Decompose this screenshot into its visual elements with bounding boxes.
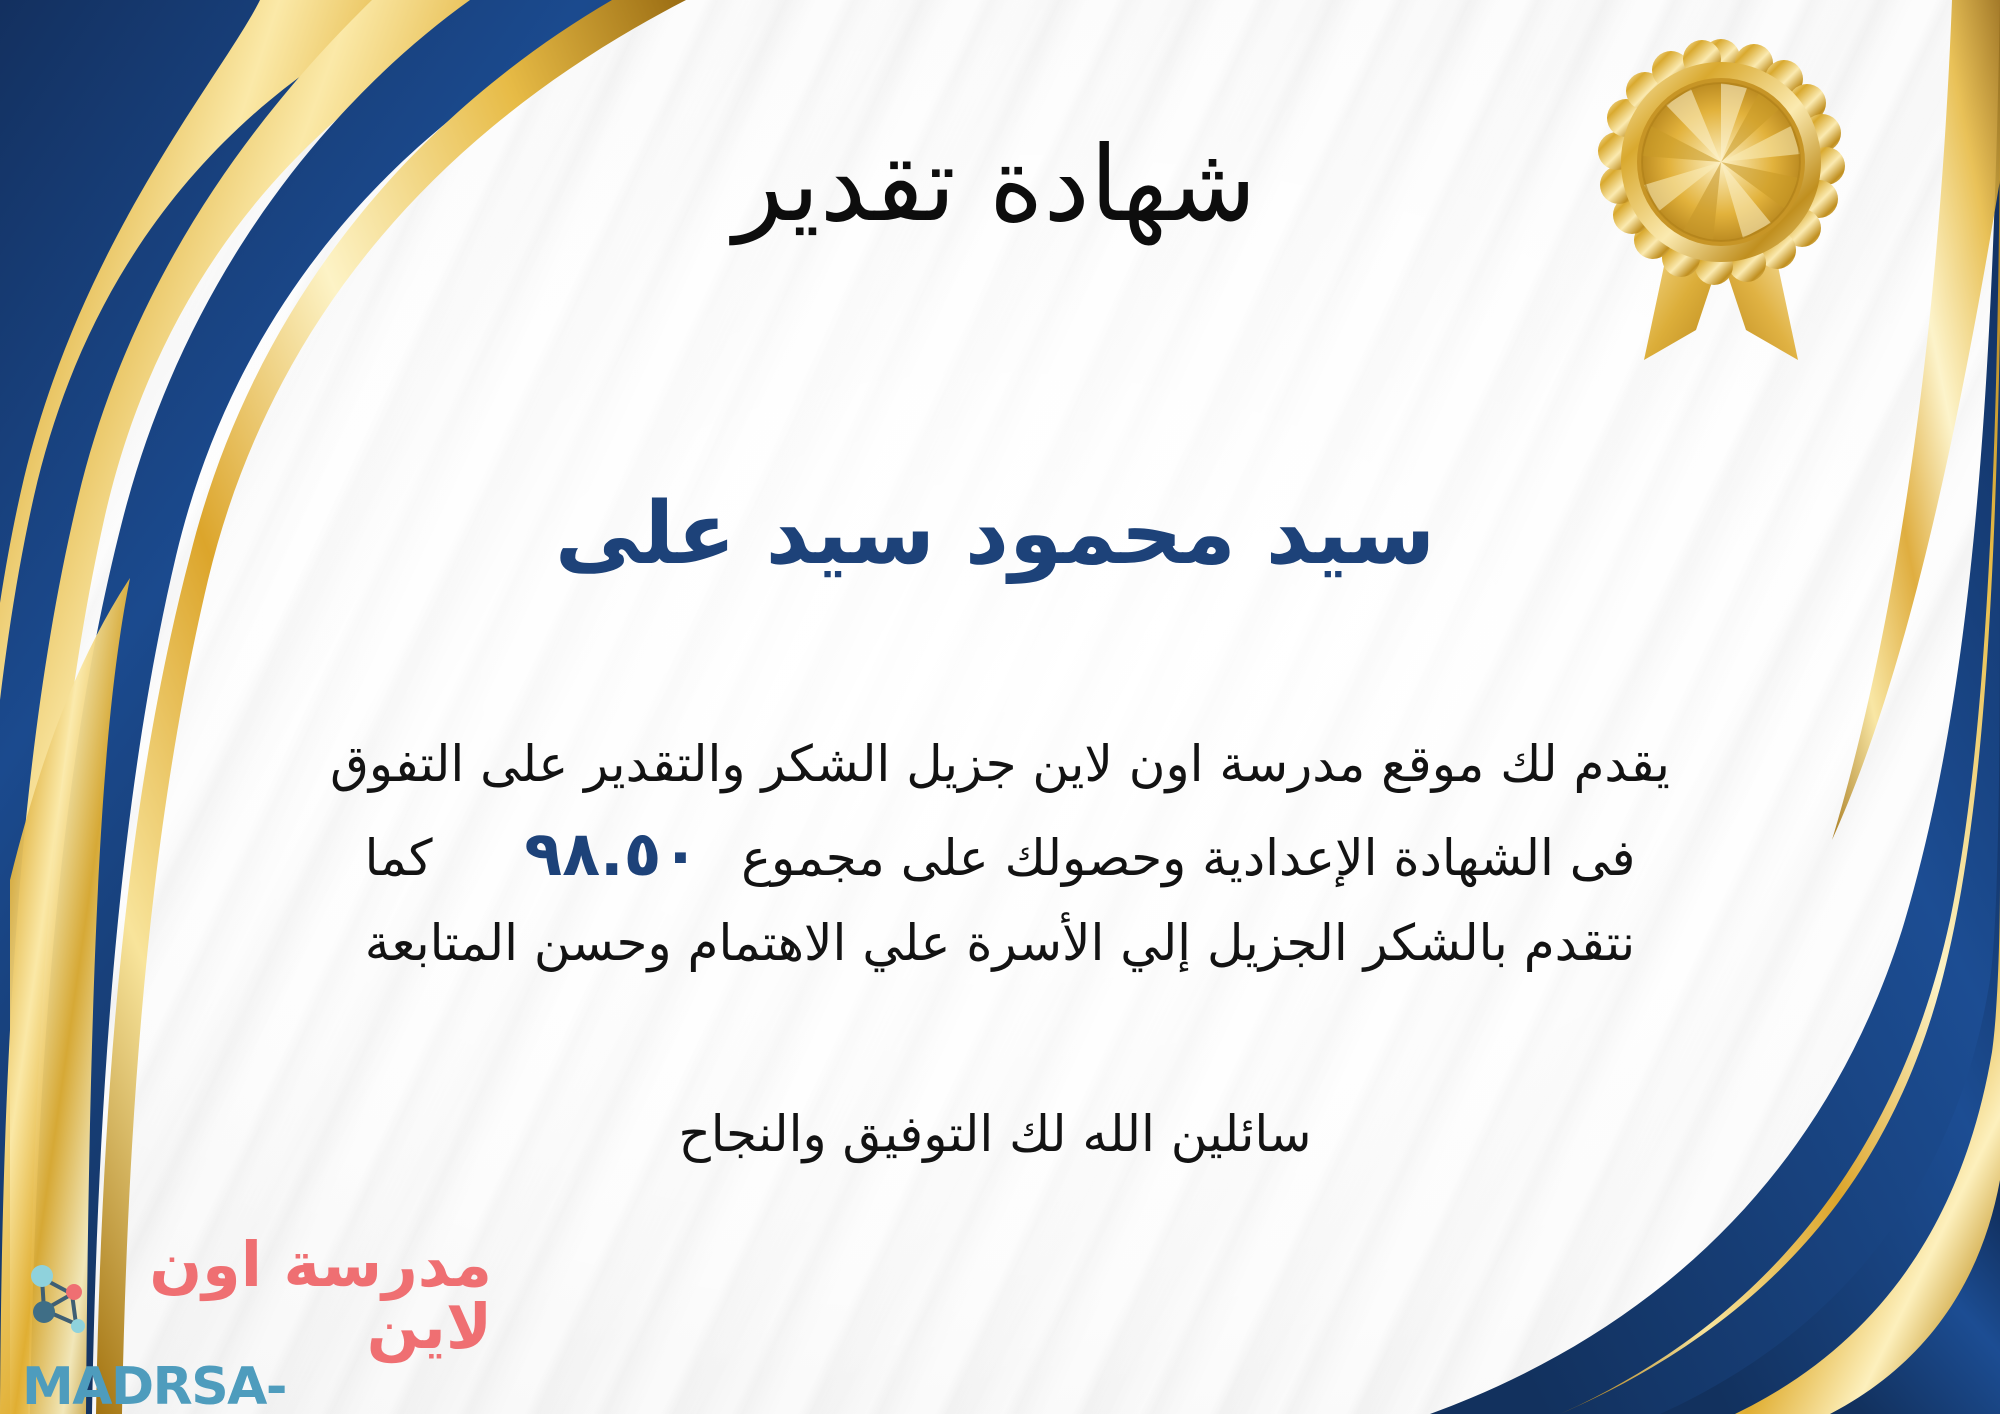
certificate-title: شهادة تقدير — [200, 130, 1790, 239]
certificate-canvas: شهادة تقدير سيد محمود سيد على يقدم لك مو… — [0, 0, 2000, 1414]
body-line-3: نتقدم بالشكر الجزيل إلي الأسرة علي الاهت… — [180, 903, 1820, 983]
body-line-2: فى الشهادة الإعدادية وحصولك على مجموع ٩٨… — [180, 804, 1820, 903]
grade-value: ٩٨.٥٠ — [498, 817, 725, 890]
certificate-content: شهادة تقدير سيد محمود سيد على يقدم لك مو… — [200, 0, 1790, 1414]
brand-website[interactable]: MADRSA-ONLINE.COM — [22, 1360, 492, 1414]
molecule-network-icon — [22, 1258, 88, 1334]
body-line-2-prefix: فى الشهادة الإعدادية وحصولك على مجموع — [741, 829, 1635, 887]
brand-logo-row: مدرسة اون لاين — [22, 1234, 492, 1358]
brand-arabic-name: مدرسة اون لاين — [94, 1234, 492, 1358]
brand-logo[interactable]: مدرسة اون لاين MADRSA-ONLINE — [22, 1234, 492, 1384]
recipient-name: سيد محمود سيد على — [200, 487, 1790, 582]
body-line-1: يقدم لك موقع مدرسة اون لاين جزيل الشكر و… — [180, 724, 1820, 804]
body-line-2-suffix: كما — [365, 829, 433, 887]
closing-line: سائلين الله لك التوفيق والنجاح — [200, 1105, 1790, 1163]
certificate-body: يقدم لك موقع مدرسة اون لاين جزيل الشكر و… — [180, 724, 1820, 983]
